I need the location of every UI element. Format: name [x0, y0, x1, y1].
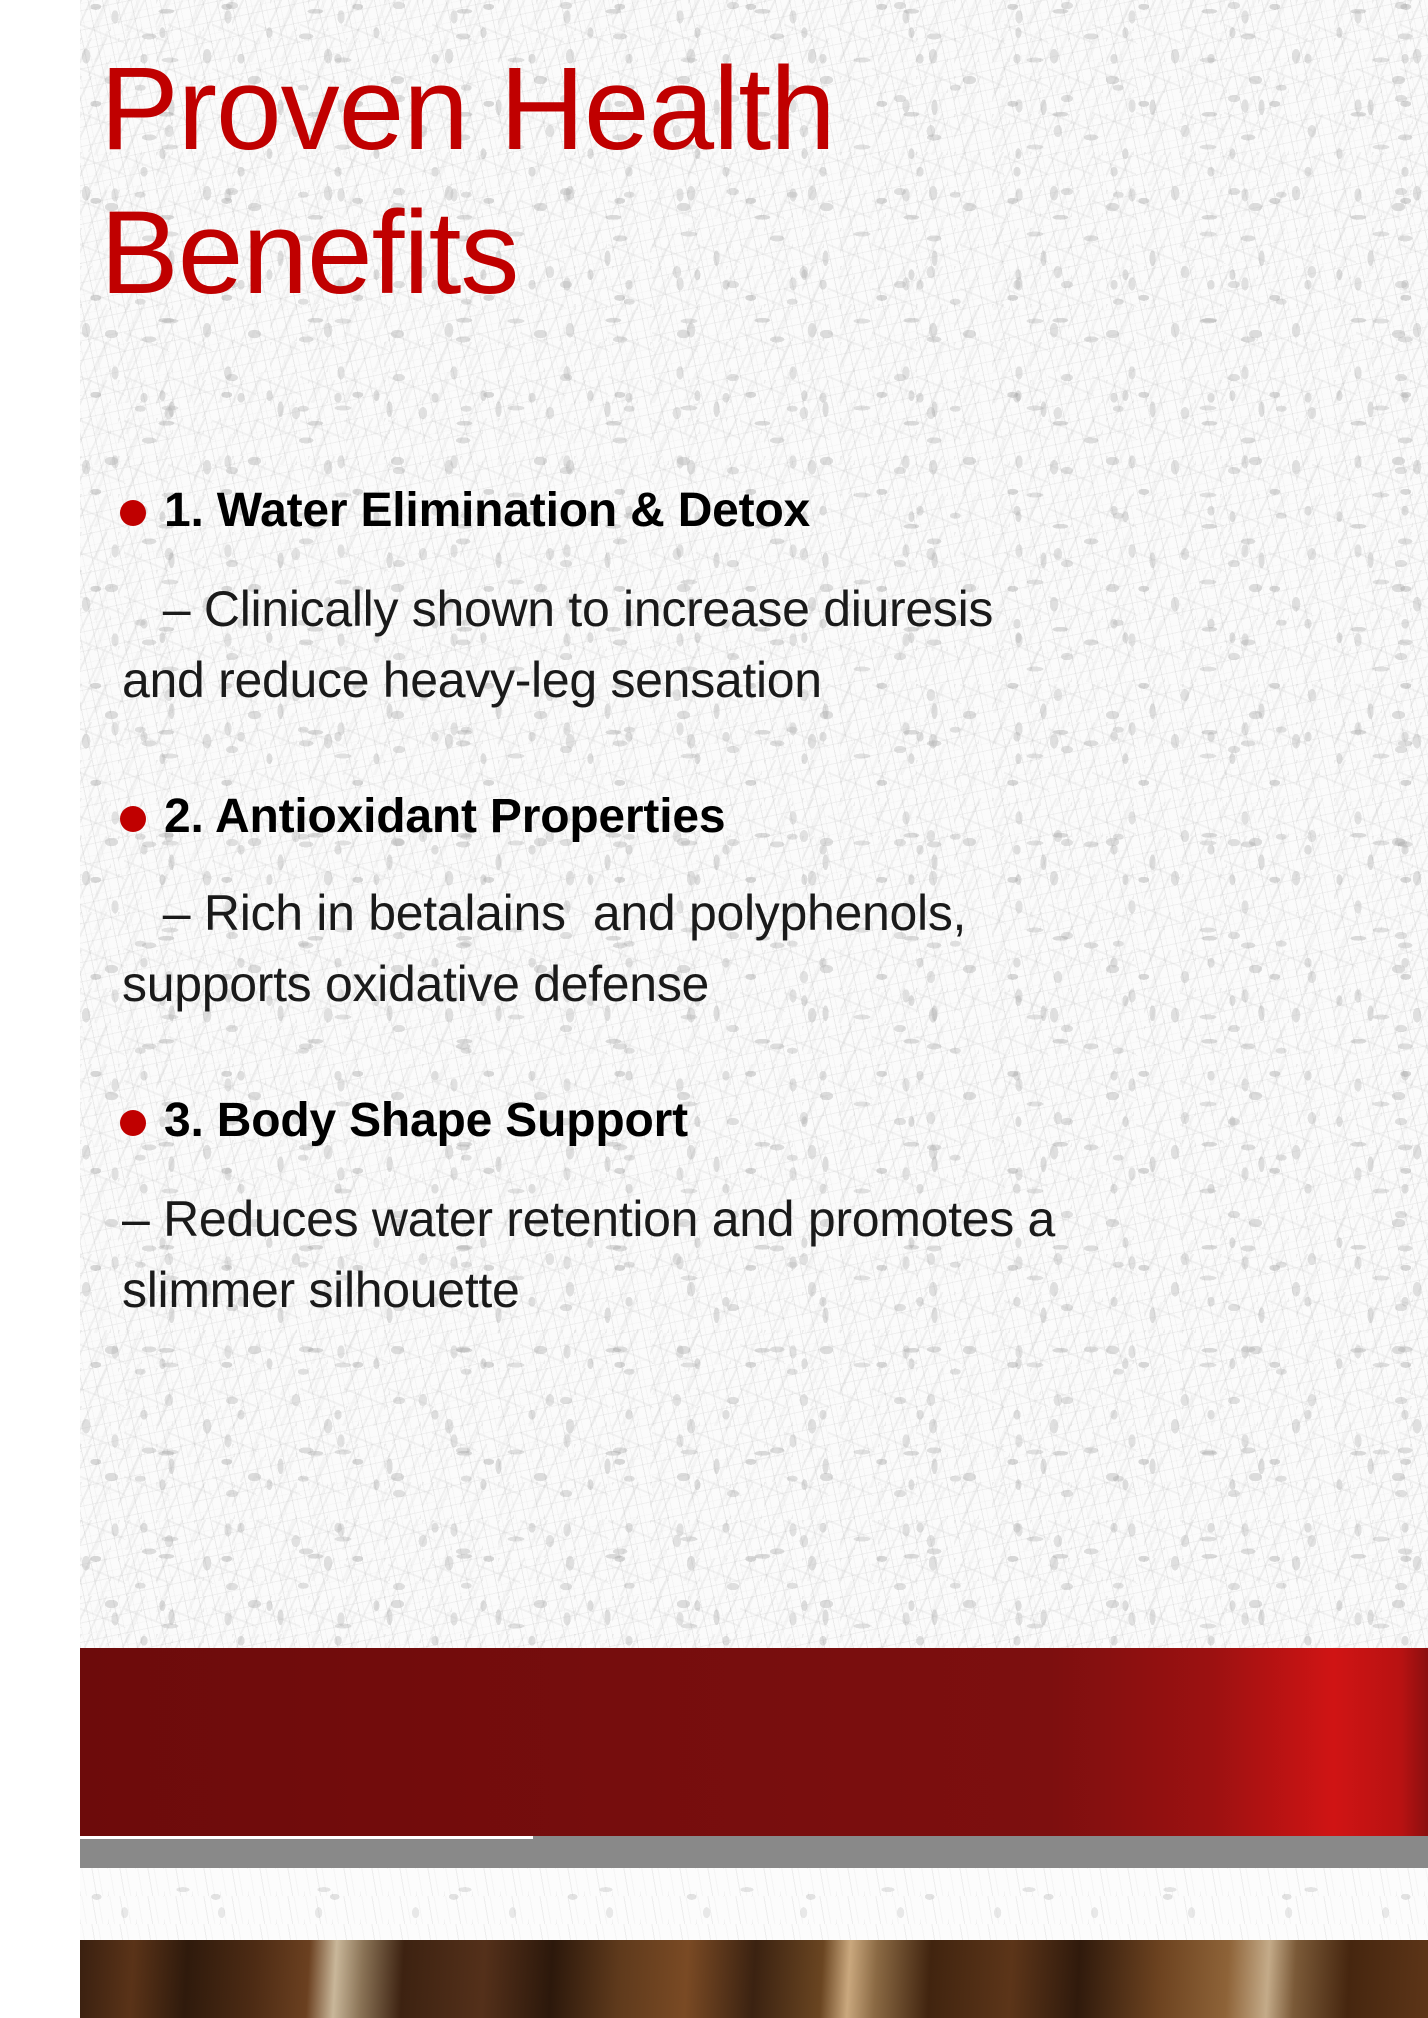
footer-gray-bar-notch	[80, 1836, 533, 1839]
bullet-item-2: 2. Antioxidant Properties	[120, 792, 725, 843]
bullet-dot-icon	[120, 500, 146, 526]
bullet-item-3: 3. Body Shape Support	[120, 1096, 688, 1147]
bullet-item-1: 1. Water Elimination & Detox	[120, 486, 810, 537]
bullet-body-1: – Clinically shown to increase diuresis …	[122, 574, 1082, 716]
bullet-heading-1: 1. Water Elimination & Detox	[164, 486, 810, 537]
slide-content: Proven Health Benefits 1. Water Eliminat…	[0, 0, 1428, 1648]
bullet-heading-3: 3. Body Shape Support	[164, 1096, 688, 1147]
footer-texture-gap	[80, 1868, 1428, 1940]
bullet-body-2: – Rich in betalains and polyphenols, sup…	[122, 878, 1022, 1020]
footer-red-bar	[80, 1648, 1428, 1836]
slide: Proven Health Benefits 1. Water Eliminat…	[0, 0, 1428, 2018]
bullet-dot-icon	[120, 806, 146, 832]
bullet-dot-icon	[120, 1110, 146, 1136]
page-title: Proven Health Benefits	[100, 38, 940, 326]
footer-wood-texture	[80, 1940, 1428, 2018]
bullet-heading-2: 2. Antioxidant Properties	[164, 792, 725, 843]
footer-gray-bar	[80, 1836, 1428, 1868]
bullet-body-3: – Reduces water retention and promotes a…	[122, 1184, 1062, 1326]
